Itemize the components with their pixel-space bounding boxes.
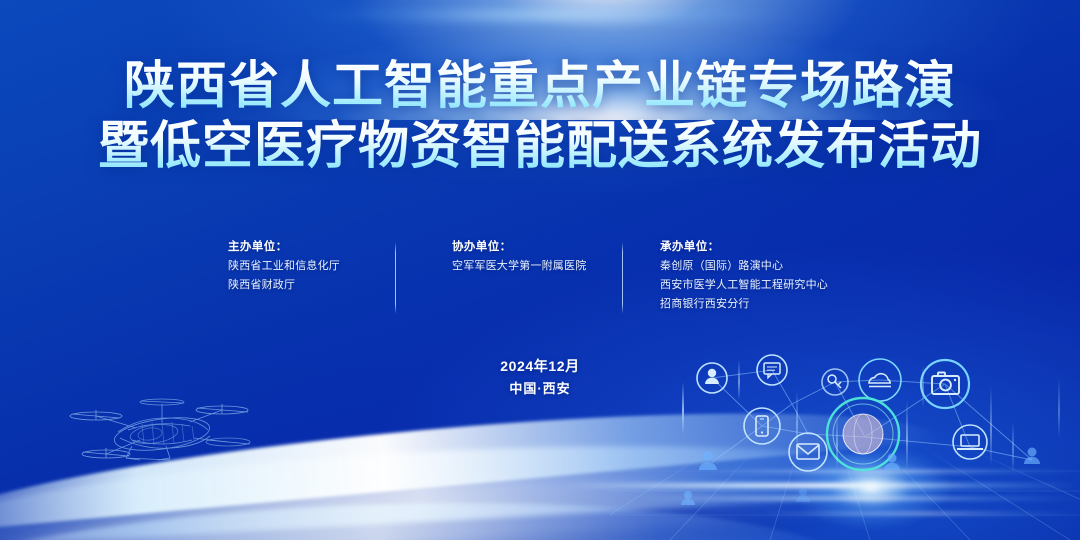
organizer-heading: 主办单位： (228, 238, 340, 257)
user-silhouette-right-icon (1024, 448, 1040, 465)
light-bar (906, 400, 908, 470)
organizer-item: 陕西省财政厅 (228, 276, 340, 295)
organizer-column-undertaker: 承办单位： 秦创原（国际）路演中心 西安市医学人工智能工程研究中心 招商银行西安… (660, 238, 828, 314)
organizer-column-coorganizer: 协办单位： 空军军医大学第一附属医院 (452, 238, 586, 276)
background-user-silhouettes (681, 448, 1040, 506)
organizer-item: 西安市医学人工智能工程研究中心 (660, 276, 828, 295)
light-bar (1012, 422, 1014, 472)
organizer-heading: 协办单位： (452, 238, 586, 257)
poster-canvas: 陕西省人工智能重点产业链专场路演 暨低空医疗物资智能配送系统发布活动 主办单位：… (0, 0, 1080, 540)
top-light-streak (216, 2, 886, 28)
horizontal-light-streak (760, 512, 1080, 515)
user-silhouette-icon (681, 491, 695, 505)
event-place: 中国·西安 (0, 378, 1080, 400)
laptop-icon-ring (953, 425, 987, 459)
organizer-heading: 承办单位： (660, 238, 828, 257)
event-date: 2024年12月 (0, 355, 1080, 378)
organizer-item: 空军军医大学第一附属医院 (452, 257, 586, 276)
poster-title: 陕西省人工智能重点产业链专场路演 暨低空医疗物资智能配送系统发布活动 (0, 56, 1080, 176)
light-bar (836, 414, 838, 470)
organizer-item: 招商银行西安分行 (660, 295, 828, 314)
organizers-block: 主办单位： 陕西省工业和信息化厅 陕西省财政厅 协办单位： 空军军医大学第一附属… (0, 238, 1080, 322)
title-line-1: 陕西省人工智能重点产业链专场路演 (0, 56, 1080, 116)
organizer-item: 陕西省工业和信息化厅 (228, 257, 340, 276)
organizer-divider (395, 242, 396, 314)
envelope-icon (797, 444, 819, 459)
title-line-2: 暨低空医疗物资智能配送系统发布活动 (0, 116, 1080, 176)
wireframe-drone-illustration (62, 388, 262, 478)
envelope-icon-ring (789, 433, 827, 471)
user-silhouette-icon (796, 488, 810, 502)
date-place-block: 2024年12月 中国·西安 (0, 355, 1080, 400)
top-light-burst (0, 0, 1080, 120)
organizer-divider (622, 242, 623, 314)
organizer-column-host: 主办单位： 陕西省工业和信息化厅 陕西省财政厅 (228, 238, 340, 295)
organizer-item: 秦创原（国际）路演中心 (660, 257, 828, 276)
